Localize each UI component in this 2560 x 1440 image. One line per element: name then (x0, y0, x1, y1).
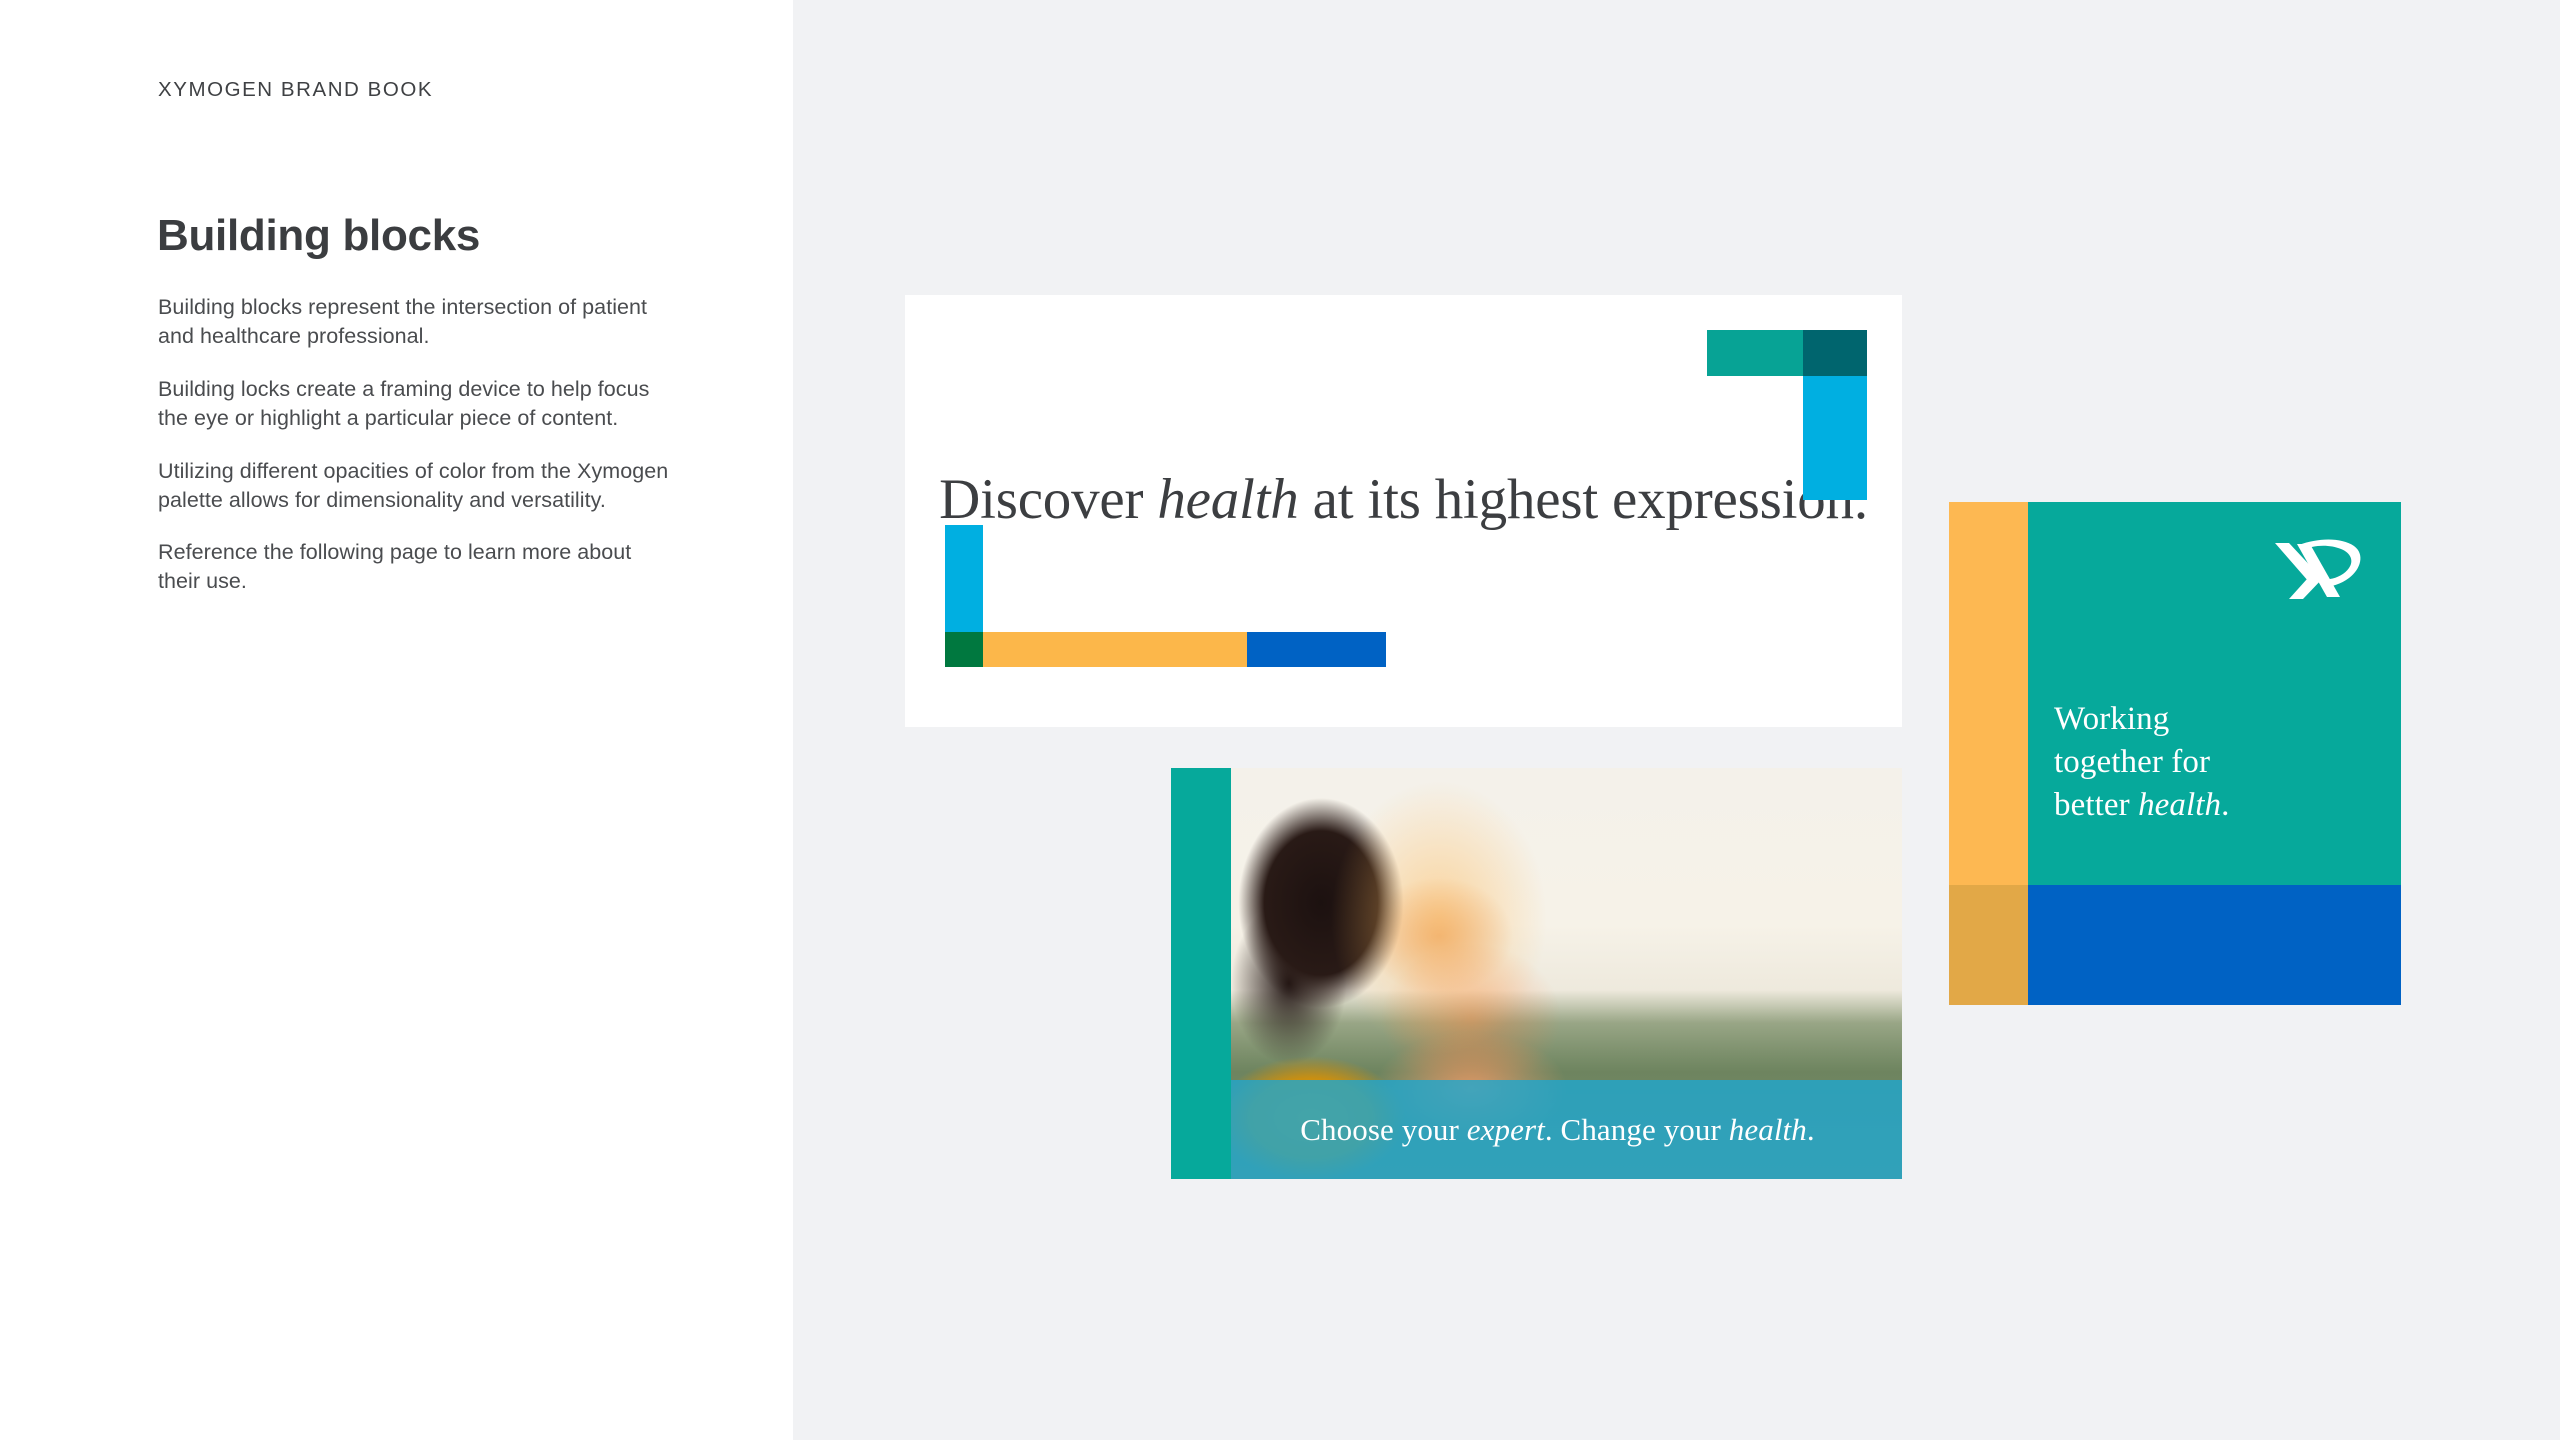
body-paragraph-4: Reference the following page to learn mo… (158, 538, 678, 596)
photo-caption: Choose your expert. Change your health. (1171, 1080, 1902, 1179)
body-paragraph-1: Building blocks represent the intersecti… (158, 293, 678, 351)
caption-text-italic-health: health (1729, 1112, 1807, 1147)
building-block-teal-dark-square (1803, 330, 1867, 376)
building-block-blue-band (2028, 885, 2401, 1005)
promo-line-2: together for (2054, 744, 2210, 780)
page-title: Building blocks (157, 212, 480, 260)
body-copy: Building blocks represent the intersecti… (158, 293, 678, 620)
building-block-green-square (945, 632, 983, 667)
building-block-cyan-vertical (1803, 376, 1867, 500)
promo-example-card: Working together for better health. (1949, 502, 2401, 1005)
body-paragraph-2: Building locks create a framing device t… (158, 375, 678, 433)
headline-text-before: Discover (939, 468, 1157, 531)
building-block-orange-overlap (1949, 885, 2028, 1005)
photo-example-card: Choose your expert. Change your health. (1171, 768, 1902, 1179)
headline-example-card: Discover health at its highest expressio… (905, 295, 1902, 727)
caption-text-after: . (1807, 1112, 1815, 1147)
xymogen-x-logo (2269, 535, 2365, 607)
caption-text-italic-expert: expert (1467, 1112, 1545, 1147)
promo-text: Working together for better health. (2054, 698, 2324, 827)
promo-line-3-italic: health (2138, 787, 2221, 823)
caption-text-before: Choose your (1300, 1112, 1467, 1147)
headline-text-italic: health (1157, 468, 1298, 531)
headline-text-after: at its highest expression. (1299, 468, 1868, 531)
building-block-yellow-bar (983, 632, 1247, 667)
body-paragraph-3: Utilizing different opacities of color f… (158, 457, 678, 515)
brand-book-eyebrow: XYMOGEN BRAND BOOK (158, 78, 433, 102)
left-panel: XYMOGEN BRAND BOOK Building blocks Build… (0, 0, 793, 1440)
building-block-blue-end (1247, 632, 1386, 667)
promo-line-3-after: . (2221, 787, 2229, 823)
caption-text-middle: . Change your (1545, 1112, 1729, 1147)
promo-line-1: Working (2054, 701, 2169, 737)
promo-line-3-before: better (2054, 787, 2138, 823)
